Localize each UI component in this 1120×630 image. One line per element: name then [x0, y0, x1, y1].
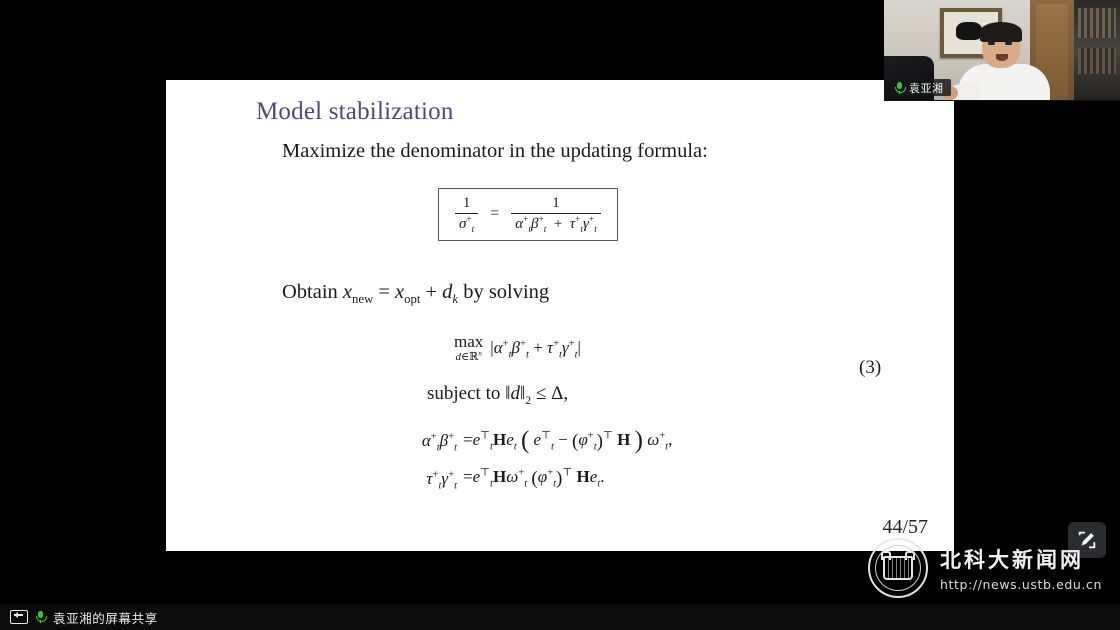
- ustb-seal-icon: [868, 538, 928, 598]
- participant-mouth: [996, 54, 1008, 61]
- optimization-objective: max d∈ℝn |α+tβ+t + τ+tγ+t|: [454, 332, 581, 363]
- slide-line-obtain: Obtain xnew = xopt + dk by solving: [282, 281, 549, 304]
- derivation-lhs: α+tβ+t: [371, 431, 457, 451]
- boxed-rhs-denominator: α+tβ+t + τ+tγ+t: [511, 213, 601, 233]
- boxed-lhs-numerator: 1: [459, 195, 475, 213]
- seal-ding-glyph: [883, 556, 913, 580]
- microphone-icon: [35, 611, 46, 623]
- slide-page-counter: 44/57: [882, 516, 928, 539]
- derivation-rhs: =e⊤tHet ( e⊤t − (φ+t)⊤ H ) ω+t,: [463, 427, 672, 455]
- boxed-equation: 1 σ+t = 1 α+tβ+t + τ+tγ+t: [438, 188, 618, 241]
- boxed-lhs-fraction: 1 σ+t: [455, 195, 478, 233]
- derivation-row: τ+tγ+t =e⊤tHω+t (φ+t)⊤ Het.: [371, 467, 672, 490]
- constraint-line: subject to ‖d‖2 ≤ Δ,: [427, 383, 568, 405]
- max-operator-label: max: [454, 332, 483, 352]
- slide-title: Model stabilization: [256, 98, 454, 126]
- video-background-bookshelf: [1074, 0, 1120, 100]
- subject-to-label: subject to: [427, 383, 500, 404]
- max-operator-limit: d∈ℝn: [456, 350, 482, 363]
- watermark-title: 北科大新闻网: [940, 544, 1102, 574]
- microphone-icon: [894, 82, 905, 94]
- screen-share-label: 袁亚湘的屏幕共享: [53, 608, 158, 627]
- constraint-expression: ‖d‖2 ≤ Δ,: [505, 383, 568, 404]
- obtain-prefix: Obtain: [282, 281, 338, 303]
- screen-share-stage: Model stabilization Maximize the denomin…: [0, 0, 1120, 630]
- watermark: 北科大新闻网 http://news.ustb.edu.cn: [868, 538, 1102, 598]
- derivation-row: α+tβ+t =e⊤tHet ( e⊤t − (φ+t)⊤ H ) ω+t,: [371, 427, 672, 455]
- watermark-url: http://news.ustb.edu.cn: [940, 577, 1102, 592]
- bottom-status-bar: 袁亚湘的屏幕共享: [0, 604, 1120, 630]
- participant-video-thumbnail[interactable]: 袁亚湘: [884, 0, 1120, 101]
- screen-share-status[interactable]: 袁亚湘的屏幕共享: [10, 608, 158, 627]
- obtain-expression: xnew = xopt + dk: [343, 281, 463, 303]
- presentation-slide[interactable]: Model stabilization Maximize the denomin…: [166, 80, 954, 551]
- participant-eye-left: [988, 42, 995, 45]
- slide-line-maximize: Maximize the denominator in the updating…: [282, 140, 708, 163]
- max-operator: max d∈ℝn: [454, 332, 483, 363]
- objective-expression: |α+tβ+t + τ+tγ+t|: [490, 338, 581, 358]
- derivation-rhs: =e⊤tHω+t (φ+t)⊤ Het.: [463, 467, 604, 490]
- participant-name-label: 袁亚湘: [909, 80, 944, 96]
- participant-name-tag: 袁亚湘: [890, 79, 951, 96]
- equation-number: (3): [859, 357, 881, 379]
- derivation-lhs: τ+tγ+t: [371, 469, 457, 489]
- boxed-rhs-fraction: 1 α+tβ+t + τ+tγ+t: [511, 195, 601, 233]
- derivation-equations: α+tβ+t =e⊤tHet ( e⊤t − (φ+t)⊤ H ) ω+t, τ…: [371, 427, 672, 502]
- boxed-lhs-denominator: σ+t: [455, 213, 478, 233]
- boxed-equals-sign: =: [490, 205, 499, 223]
- boxed-rhs-numerator: 1: [548, 195, 564, 213]
- watermark-text: 北科大新闻网 http://news.ustb.edu.cn: [940, 544, 1102, 592]
- obtain-suffix: by solving: [463, 281, 549, 303]
- participant-eye-right: [1005, 42, 1012, 45]
- participant-hair: [980, 22, 1022, 42]
- screen-share-icon: [10, 610, 28, 624]
